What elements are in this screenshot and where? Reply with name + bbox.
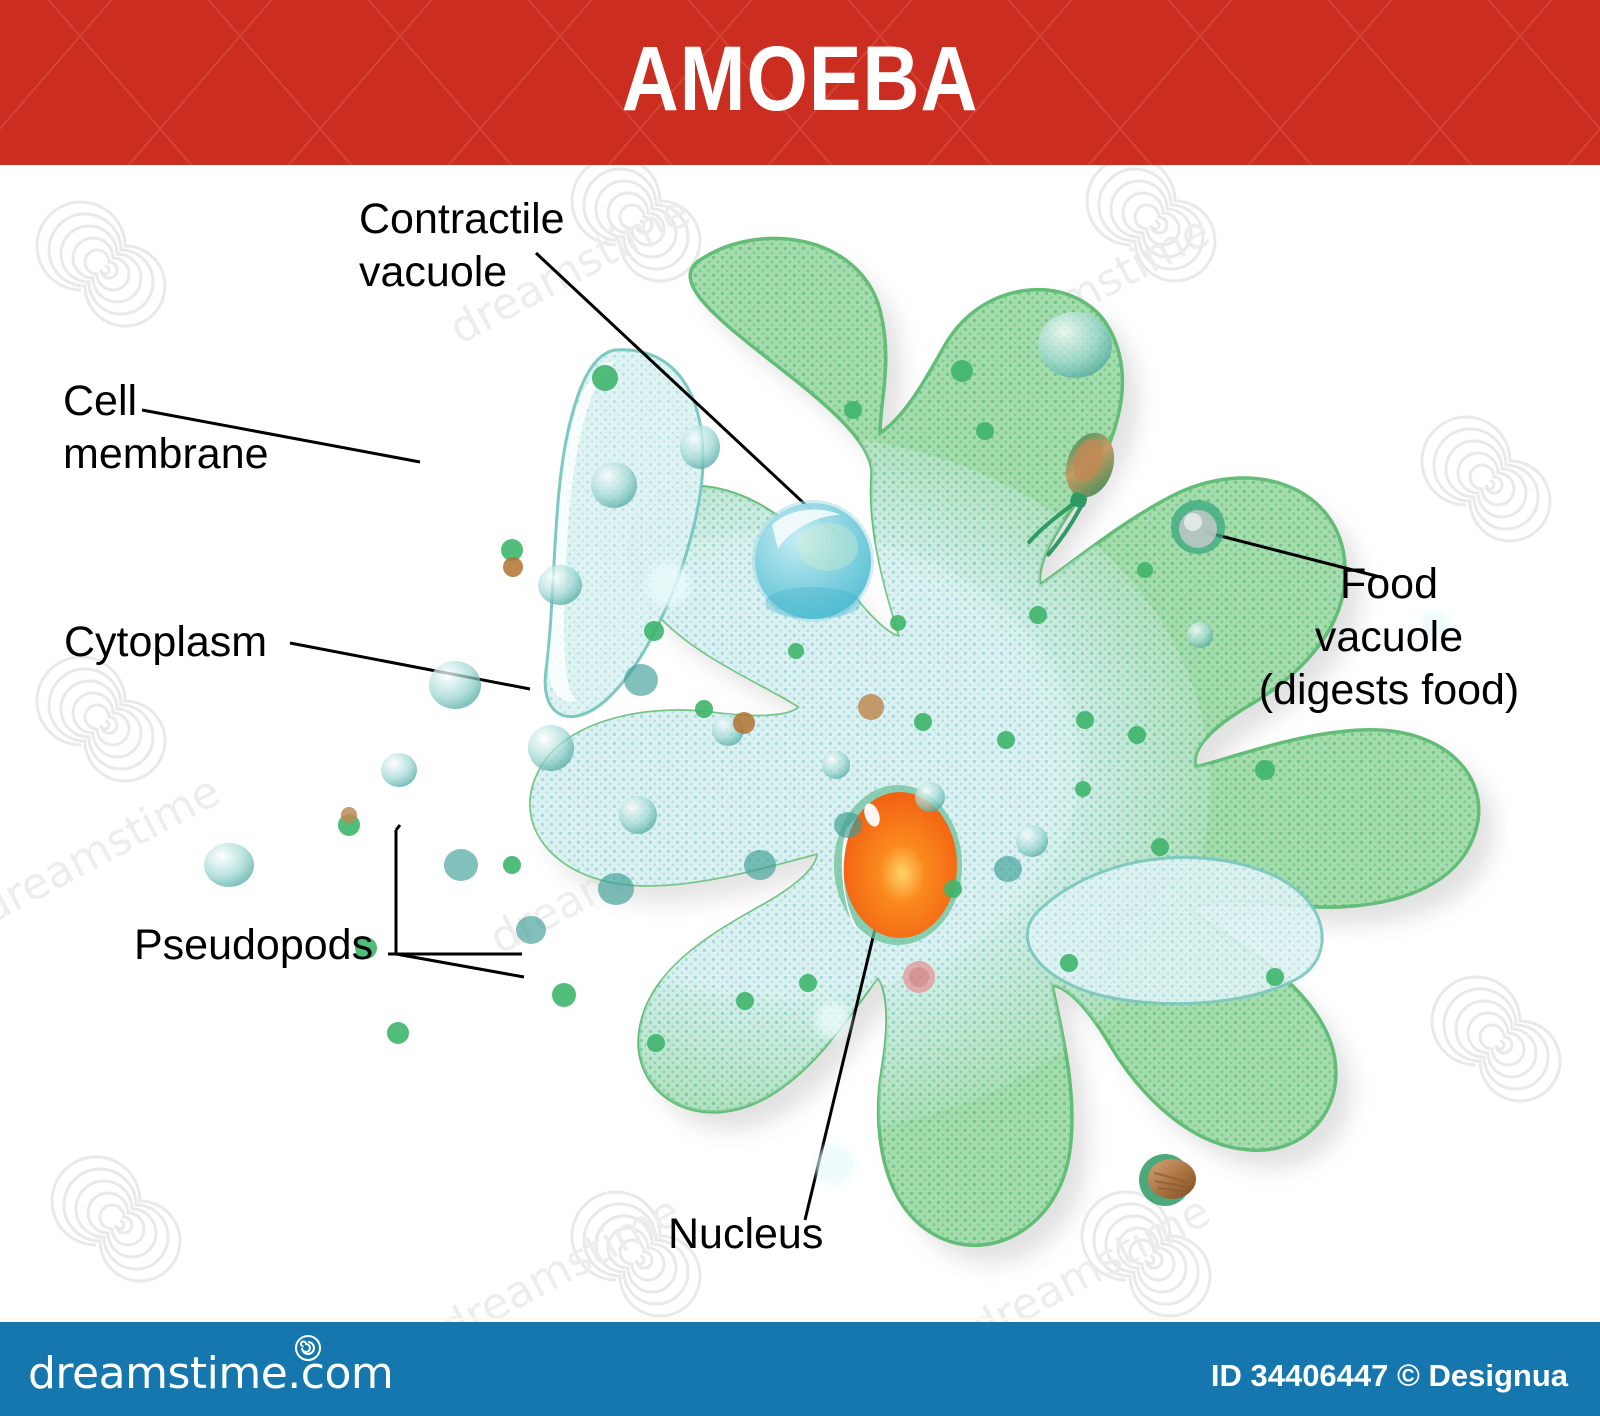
image-credit: ID 34406447 © Designua [1211, 1358, 1568, 1394]
label-cell-membrane: Cell membrane [63, 375, 269, 481]
leader-pseudopods-arm1 [396, 825, 400, 830]
amoeba-figure [0, 165, 1600, 1322]
label-nucleus: Nucleus [668, 1208, 823, 1261]
dreamstime-spiral-icon [295, 1335, 321, 1361]
footer-bar: dreamstime.com ID 34406447 © Designua [0, 1322, 1600, 1416]
contractile-vacuole [752, 500, 874, 622]
label-pseudopods: Pseudopods [134, 919, 373, 972]
label-cytoplasm: Cytoplasm [64, 616, 267, 669]
food-particle-engulfed [1139, 1154, 1196, 1206]
footer-hairline [0, 1318, 1600, 1320]
diagram-stage: dreamstime [0, 165, 1600, 1322]
leader-pseudopods-arm2 [396, 954, 524, 977]
dreamstime-logo-text: dreamstime.com [28, 1348, 393, 1399]
label-food-vacuole: Food vacuole (digests food) [1229, 558, 1549, 717]
header-banner: AMOEBA [0, 0, 1600, 165]
leader-cytoplasm [290, 643, 530, 689]
dreamstime-logo[interactable]: dreamstime.com [28, 1348, 393, 1399]
nucleus [834, 785, 962, 945]
page-title: AMOEBA [112, 0, 1488, 165]
food-vacuole [1171, 500, 1225, 554]
label-contractile-vacuole: Contractile vacuole [359, 193, 565, 299]
